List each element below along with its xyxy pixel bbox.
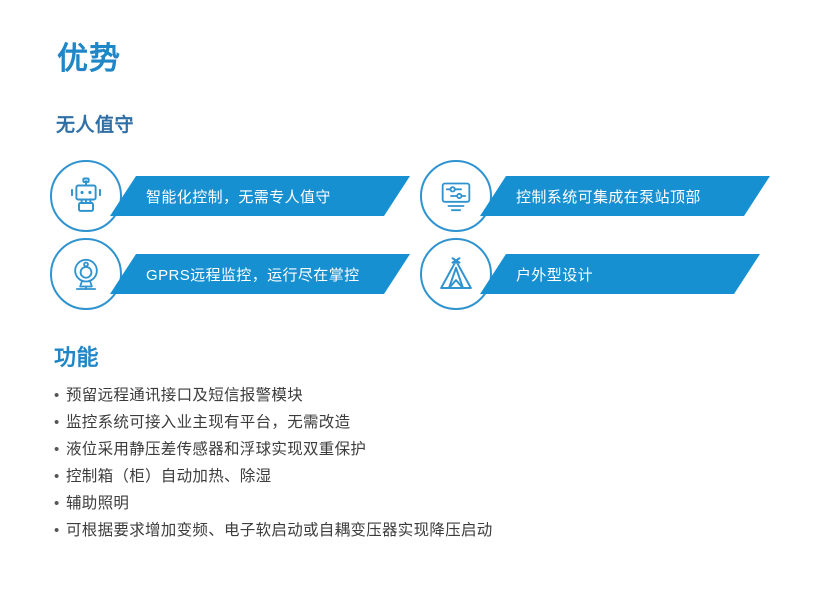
robot-icon-badge	[50, 160, 122, 232]
feature-ribbon: GPRS远程监控，运行尽在掌控	[110, 254, 410, 294]
functions-list: • 预留远程通讯接口及短信报警模块 • 监控系统可接入业主现有平台，无需改造 •…	[54, 382, 774, 544]
webcam-icon-badge	[50, 238, 122, 310]
list-item: • 预留远程通讯接口及短信报警模块	[54, 382, 774, 409]
section-title-functions: 功能	[54, 340, 99, 372]
list-item: • 监控系统可接入业主现有平台，无需改造	[54, 409, 774, 436]
list-item-label: 辅助照明	[66, 490, 129, 517]
robot-icon	[65, 175, 107, 217]
feature-item-intelligent-control: 智能化控制，无需专人值守	[50, 160, 410, 232]
feature-ribbon: 智能化控制，无需专人值守	[110, 176, 410, 216]
bullet-marker-icon: •	[54, 517, 66, 544]
control-panel-icon	[436, 176, 476, 216]
section-subtitle-unattended: 无人值守	[56, 110, 134, 137]
feature-ribbon: 户外型设计	[480, 254, 760, 294]
bullet-marker-icon: •	[54, 490, 66, 517]
feature-item-integrated-control-system: 控制系统可集成在泵站顶部	[420, 160, 780, 232]
feature-item-outdoor-design: 户外型设计	[420, 238, 780, 310]
list-item: • 可根据要求增加变频、电子软启动或自耦变压器实现降压启动	[54, 517, 774, 544]
feature-label: GPRS远程监控，运行尽在掌控	[110, 264, 360, 285]
tent-icon-badge	[420, 238, 492, 310]
bullet-marker-icon: •	[54, 409, 66, 436]
feature-ribbon: 控制系统可集成在泵站顶部	[480, 176, 770, 216]
slide-page: 优势 无人值守	[0, 0, 827, 598]
feature-label: 户外型设计	[480, 264, 593, 285]
list-item-label: 预留远程通讯接口及短信报警模块	[66, 382, 303, 409]
feature-label: 智能化控制，无需专人值守	[110, 186, 331, 207]
bullet-marker-icon: •	[54, 436, 66, 463]
feature-grid: 智能化控制，无需专人值守 控制系统	[50, 160, 790, 310]
list-item-label: 可根据要求增加变频、电子软启动或自耦变压器实现降压启动	[66, 517, 493, 544]
webcam-icon	[66, 254, 106, 294]
list-item-label: 液位采用静压差传感器和浮球实现双重保护	[66, 436, 366, 463]
bullet-marker-icon: •	[54, 463, 66, 490]
page-title: 优势	[57, 40, 121, 77]
feature-label: 控制系统可集成在泵站顶部	[480, 186, 701, 207]
bullet-marker-icon: •	[54, 382, 66, 409]
tent-icon	[435, 253, 477, 295]
list-item-label: 监控系统可接入业主现有平台，无需改造	[66, 409, 350, 436]
control-panel-icon-badge	[420, 160, 492, 232]
list-item: • 辅助照明	[54, 490, 774, 517]
list-item: • 液位采用静压差传感器和浮球实现双重保护	[54, 436, 774, 463]
list-item-label: 控制箱（柜）自动加热、除湿	[66, 463, 271, 490]
feature-item-gprs-monitoring: GPRS远程监控，运行尽在掌控	[50, 238, 410, 310]
list-item: • 控制箱（柜）自动加热、除湿	[54, 463, 774, 490]
